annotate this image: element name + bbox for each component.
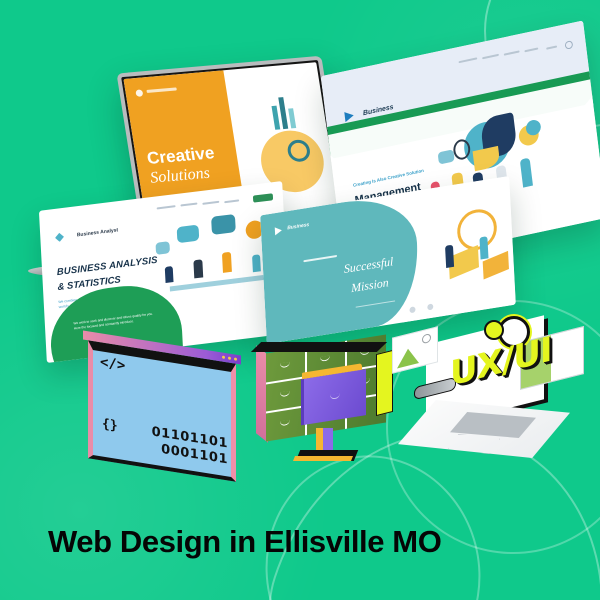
mission-heading-line1: Successful	[344, 254, 394, 277]
biz-person-2	[193, 260, 203, 279]
cabinet-handle-6[interactable]	[280, 420, 290, 427]
creative-bar-2	[278, 97, 288, 129]
ruler-icon	[376, 350, 393, 416]
code-window-dot-2[interactable]	[228, 356, 231, 359]
biz-logo-text: Business Analyst	[77, 227, 119, 238]
ux-ui-laptop: UX/UI	[392, 330, 582, 480]
mission-teal-panel: Business Successful Mission	[260, 191, 421, 344]
page-title: Web Design in Ellisville MO	[48, 524, 441, 560]
cabinet-open-drawer-handle[interactable]	[330, 393, 340, 400]
cabinet-open-drawer[interactable]	[304, 369, 366, 425]
mission-logo-text: Business	[287, 222, 309, 232]
biz-person-1	[164, 266, 173, 283]
cabinet-handle-2[interactable]	[320, 355, 330, 362]
mission-person-2	[479, 237, 488, 260]
cabinet-handle-4[interactable]	[280, 391, 290, 398]
image-icon-sun	[422, 333, 431, 344]
mission-logo-arrow-icon	[275, 226, 282, 235]
code-window: </> {} 01101101 0001101	[88, 340, 236, 481]
filing-cabinet-database	[256, 344, 386, 440]
mission-rule-2	[355, 300, 395, 307]
mission-heading-line2: Mission	[351, 276, 389, 297]
biz-chat-bubble-3	[156, 241, 171, 255]
poster-canvas: Creative Solutions Digital Data Systems …	[0, 0, 600, 600]
biz-logo-icon	[55, 232, 64, 242]
mission-person-1	[445, 245, 454, 268]
business-analysis-statistics-screen: Business Analyst BUSINESS ANALYSIS & STA…	[39, 181, 290, 363]
code-window-dot-1[interactable]	[222, 355, 225, 358]
mgmt-logo-arrow-icon	[344, 110, 354, 122]
cabinet-top-shadow	[251, 342, 387, 352]
mission-rule-1	[303, 255, 337, 262]
cabinet-handle-1[interactable]	[280, 362, 290, 369]
biz-person-4	[252, 254, 261, 272]
biz-chat-bubble-2	[211, 214, 236, 235]
biz-chat-bubble-1	[177, 225, 200, 244]
image-icon-mountain	[397, 346, 419, 368]
gear-small-icon	[484, 320, 504, 340]
code-window-dot-3[interactable]	[234, 357, 237, 360]
cabinet-stand-base-accent	[293, 456, 353, 461]
biz-person-3	[222, 252, 232, 273]
biz-nav-dash-2	[181, 203, 198, 207]
creative-bar-3	[288, 108, 296, 128]
biz-heading-line1: BUSINESS ANALYSIS	[57, 254, 158, 277]
biz-nav-dash-4	[224, 199, 239, 203]
biz-blob-text: We work to seek and discover and refuse …	[73, 312, 155, 331]
code-brace-icon: {}	[102, 416, 118, 433]
biz-cta-button[interactable]	[253, 193, 273, 202]
biz-nav-dash-3	[202, 201, 219, 205]
creative-bar-1	[272, 106, 281, 130]
biz-nav-dash-1	[156, 205, 176, 209]
